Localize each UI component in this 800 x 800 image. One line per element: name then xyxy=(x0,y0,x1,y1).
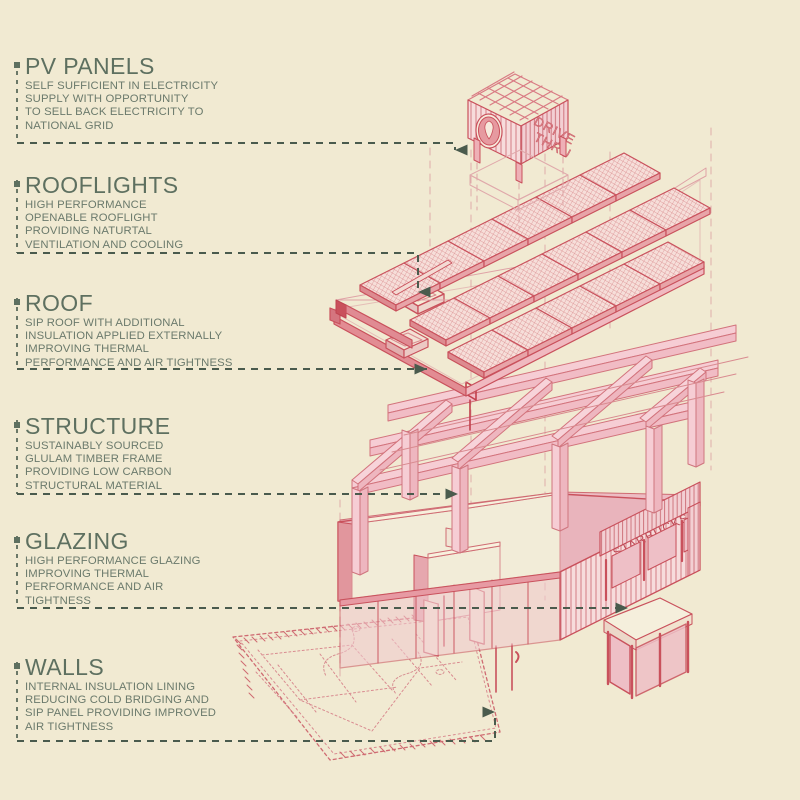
annotation-body: SUSTAINABLY SOURCED GLULAM TIMBER FRAME … xyxy=(25,440,172,493)
annotation-title: PV PANELS xyxy=(25,55,218,78)
leader-pv-panels xyxy=(17,143,455,150)
annotation-roof: ROOF SIP ROOF WITH ADDITIONAL INSULATION… xyxy=(14,292,233,370)
annotation-rooflights: ROOFLIGHTS HIGH PERFORMANCE OPENABLE ROO… xyxy=(14,174,183,252)
annotation-pv-panels: PV PANELS SELF SUFFICIENT IN ELECTRICITY… xyxy=(14,55,218,133)
bullet-marker xyxy=(14,663,20,669)
bullet-marker xyxy=(14,62,20,68)
annotation-title: STRUCTURE xyxy=(25,415,172,438)
leader-rooflights xyxy=(17,253,418,292)
annotation-title: WALLS xyxy=(25,656,216,679)
bullet-marker xyxy=(14,299,20,305)
annotation-title: ROOFLIGHTS xyxy=(25,174,183,197)
annotation-body: INTERNAL INSULATION LINING REDUCING COLD… xyxy=(25,681,216,734)
annotation-body: SIP ROOF WITH ADDITIONAL INSULATION APPL… xyxy=(25,317,233,370)
bullet-marker xyxy=(14,422,20,428)
bullet-marker xyxy=(14,181,20,187)
annotation-title: GLAZING xyxy=(25,530,201,553)
annotation-title: ROOF xyxy=(25,292,233,315)
annotation-body: SELF SUFFICIENT IN ELECTRICITY SUPPLY WI… xyxy=(25,80,218,133)
bullet-marker xyxy=(14,537,20,543)
annotation-walls: WALLS INTERNAL INSULATION LINING REDUCIN… xyxy=(14,656,216,734)
annotation-body: HIGH PERFORMANCE OPENABLE ROOFLIGHT PROV… xyxy=(25,199,183,252)
exploded-axonometric-diagram: STARBUCKS xyxy=(0,0,800,800)
annotation-structure: STRUCTURE SUSTAINABLY SOURCED GLULAM TIM… xyxy=(14,415,172,493)
annotation-glazing: GLAZING HIGH PERFORMANCE GLAZING IMPROVI… xyxy=(14,530,201,608)
annotation-body: HIGH PERFORMANCE GLAZING IMPROVING THERM… xyxy=(25,555,201,608)
